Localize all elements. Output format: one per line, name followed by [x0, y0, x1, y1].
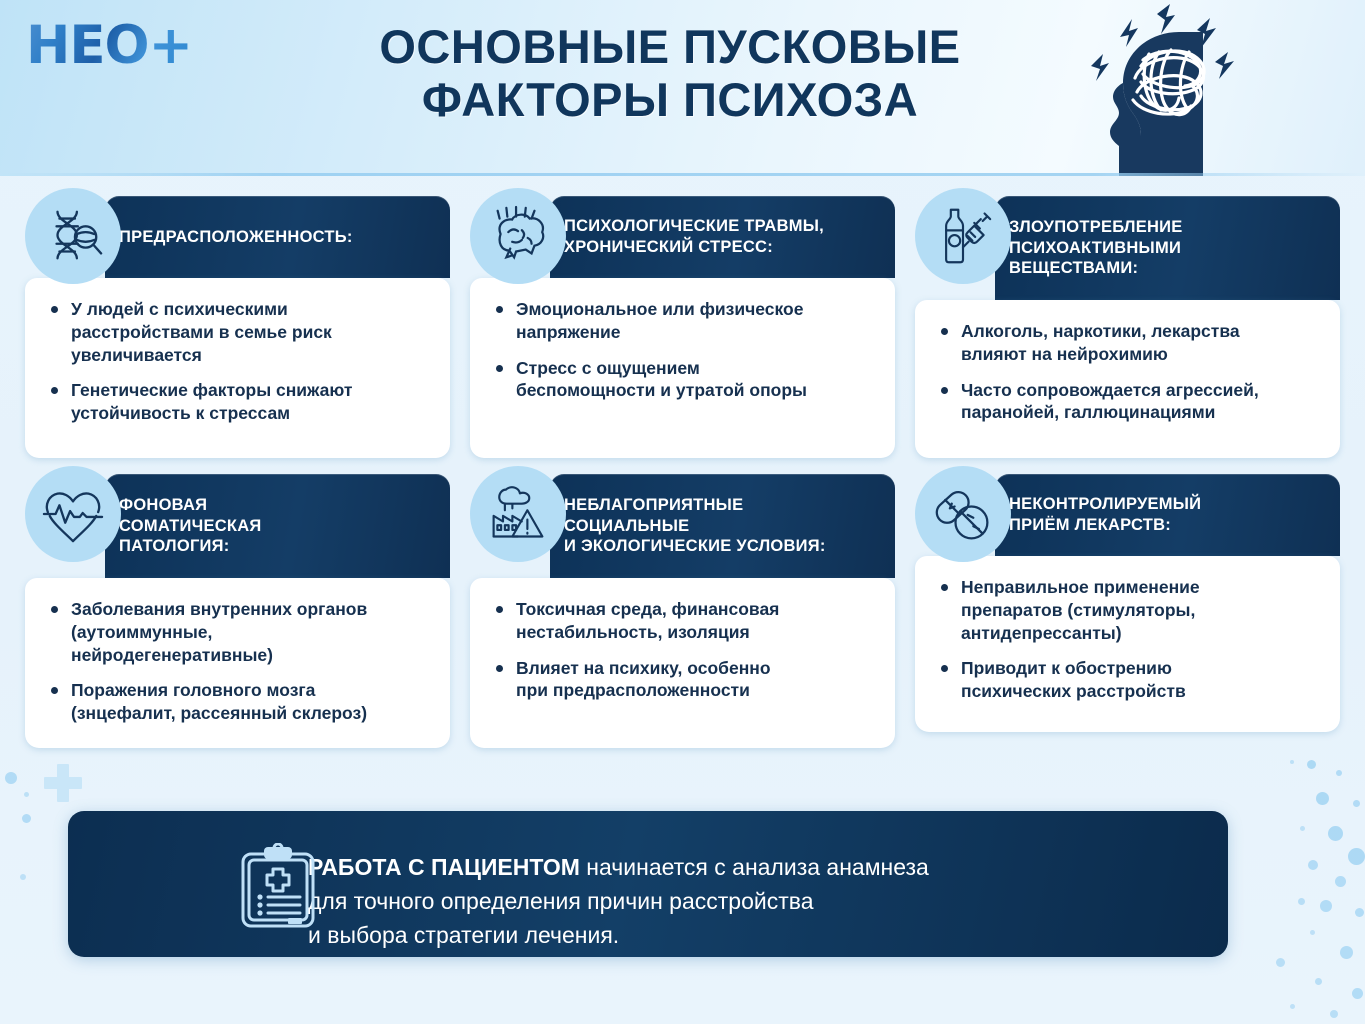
list-item: Влияет на психику, особенно при предрасп… — [492, 657, 879, 703]
list-item: Токсичная среда, финансовая нестабильнос… — [492, 598, 879, 644]
list-item: Эмоциональное или физическое напряжение — [492, 298, 879, 344]
clipboard-medical-icon — [238, 843, 318, 929]
card-title: ПРЕДРАСПОЛОЖЕННОСТЬ: — [119, 227, 353, 248]
deco-dot — [1320, 900, 1332, 912]
banner-text: РАБОТА С ПАЦИЕНТОМ начинается с анализа … — [308, 816, 929, 952]
factor-card: НЕБЛАГОПРИЯТНЫЕ СОЦИАЛЬНЫЕ И ЭКОЛОГИЧЕСК… — [470, 474, 895, 750]
deco-dot — [1330, 1010, 1338, 1018]
summary-banner: РАБОТА С ПАЦИЕНТОМ начинается с анализа … — [68, 811, 1228, 957]
list-item: Приводит к обострению психических расстр… — [937, 657, 1324, 703]
bullet-list: Алкоголь, наркотики, лекарства влияют на… — [937, 320, 1324, 424]
deco-dot — [1300, 826, 1305, 831]
bottle-syringe-icon — [915, 188, 1011, 284]
factory-warning-icon — [470, 466, 566, 562]
bullet-list: У людей с психическими расстройствами в … — [47, 298, 434, 425]
deco-dot — [1348, 848, 1365, 865]
list-item: Заболевания внутренних органов (аутоимму… — [47, 598, 434, 666]
deco-dot — [1276, 958, 1285, 967]
card-title: ЗЛОУПОТРЕБЛЕНИЕ ПСИХОАКТИВНЫМИ ВЕЩЕСТВАМ… — [1009, 217, 1183, 279]
deco-dot — [1353, 800, 1360, 807]
list-item: Неправильное применение препаратов (стим… — [937, 576, 1324, 644]
deco-dot — [1310, 930, 1315, 935]
deco-dot — [5, 772, 17, 784]
head-with-tangled-thoughts-icon — [1075, 4, 1285, 176]
deco-dot — [22, 814, 31, 823]
list-item: Поражения головного мозга (знцефалит, ра… — [47, 679, 434, 725]
list-item: Часто сопровождается агрессией, паранойе… — [937, 379, 1324, 425]
deco-dot — [1335, 876, 1346, 887]
page-title-line-1: ОСНОВНЫЕ ПУСКОВЫЕ — [300, 20, 1040, 73]
factors-grid: ПРЕДРАСПОЛОЖЕННОСТЬ: У людей с психическ… — [25, 196, 1340, 750]
deco-dot — [1307, 760, 1316, 769]
infographic-page: НЕО+ ОСНОВНЫЕ ПУСКОВЫЕ ФАКТОРЫ ПСИХОЗА — [0, 0, 1365, 1024]
card-body: Неправильное применение препаратов (стим… — [915, 556, 1340, 732]
pills-icon — [915, 466, 1011, 562]
deco-dot — [20, 874, 26, 880]
factor-card: ПСИХОЛОГИЧЕСКИЕ ТРАВМЫ, ХРОНИЧЕСКИЙ СТРЕ… — [470, 196, 895, 460]
banner-lead: РАБОТА С ПАЦИЕНТОМ — [308, 854, 580, 880]
deco-dot — [1352, 988, 1363, 999]
card-header: НЕКОНТРОЛИРУЕМЫЙ ПРИЁМ ЛЕКАРСТВ: — [995, 474, 1340, 556]
factor-card: ЗЛОУПОТРЕБЛЕНИЕ ПСИХОАКТИВНЫМИ ВЕЩЕСТВАМ… — [915, 196, 1340, 460]
dna-magnifier-icon — [25, 188, 121, 284]
list-item: Генетические факторы снижают устойчивост… — [47, 379, 434, 425]
factor-card: ФОНОВАЯ СОМАТИЧЕСКАЯ ПАТОЛОГИЯ: Заболева… — [25, 474, 450, 750]
card-body: У людей с психическими расстройствами в … — [25, 278, 450, 458]
card-header: ПСИХОЛОГИЧЕСКИЕ ТРАВМЫ, ХРОНИЧЕСКИЙ СТРЕ… — [550, 196, 895, 278]
bullet-list: Эмоциональное или физическое напряжение … — [492, 298, 879, 402]
factor-card: ПРЕДРАСПОЛОЖЕННОСТЬ: У людей с психическ… — [25, 196, 450, 460]
list-item: У людей с психическими расстройствами в … — [47, 298, 434, 366]
card-header: ПРЕДРАСПОЛОЖЕННОСТЬ: — [105, 196, 450, 278]
card-body: Алкоголь, наркотики, лекарства влияют на… — [915, 300, 1340, 458]
deco-dot — [1290, 760, 1294, 764]
page-title-line-2: ФАКТОРЫ ПСИХОЗА — [300, 73, 1040, 126]
deco-dot — [24, 792, 29, 797]
heart-pulse-icon — [25, 466, 121, 562]
page-title: ОСНОВНЫЕ ПУСКОВЫЕ ФАКТОРЫ ПСИХОЗА — [300, 20, 1040, 126]
card-header: НЕБЛАГОПРИЯТНЫЕ СОЦИАЛЬНЫЕ И ЭКОЛОГИЧЕСК… — [550, 474, 895, 578]
factor-card: НЕКОНТРОЛИРУЕМЫЙ ПРИЁМ ЛЕКАРСТВ: Неправи… — [915, 474, 1340, 750]
card-body: Эмоциональное или физическое напряжение … — [470, 278, 895, 458]
list-item: Стресс с ощущением беспомощности и утрат… — [492, 357, 879, 403]
deco-dot — [1298, 898, 1305, 905]
deco-dot — [1336, 770, 1342, 776]
stressed-brain-icon — [470, 188, 566, 284]
deco-dot — [1290, 1004, 1295, 1009]
deco-dot — [1355, 908, 1364, 917]
deco-dot — [1316, 792, 1329, 805]
deco-dot — [1340, 946, 1353, 959]
deco-dot — [1315, 978, 1322, 985]
card-title: НЕКОНТРОЛИРУЕМЫЙ ПРИЁМ ЛЕКАРСТВ: — [1009, 494, 1201, 536]
card-title: НЕБЛАГОПРИЯТНЫЕ СОЦИАЛЬНЫЕ И ЭКОЛОГИЧЕСК… — [564, 495, 826, 557]
deco-dot — [1328, 826, 1343, 841]
card-header: ЗЛОУПОТРЕБЛЕНИЕ ПСИХОАКТИВНЫМИ ВЕЩЕСТВАМ… — [995, 196, 1340, 300]
deco-dot — [1308, 860, 1318, 870]
card-body: Токсичная среда, финансовая нестабильнос… — [470, 578, 895, 748]
bullet-list: Неправильное применение препаратов (стим… — [937, 576, 1324, 703]
page-header: НЕО+ ОСНОВНЫЕ ПУСКОВЫЕ ФАКТОРЫ ПСИХОЗА — [0, 0, 1365, 176]
bullet-list: Токсичная среда, финансовая нестабильнос… — [492, 598, 879, 702]
card-body: Заболевания внутренних органов (аутоимму… — [25, 578, 450, 748]
bullet-list: Заболевания внутренних органов (аутоимму… — [47, 598, 434, 725]
card-header: ФОНОВАЯ СОМАТИЧЕСКАЯ ПАТОЛОГИЯ: — [105, 474, 450, 578]
card-title: ФОНОВАЯ СОМАТИЧЕСКАЯ ПАТОЛОГИЯ: — [119, 495, 261, 557]
list-item: Алкоголь, наркотики, лекарства влияют на… — [937, 320, 1324, 366]
card-title: ПСИХОЛОГИЧЕСКИЕ ТРАВМЫ, ХРОНИЧЕСКИЙ СТРЕ… — [564, 216, 824, 258]
brand-logo[interactable]: НЕО+ — [26, 17, 198, 73]
plus-icon — [44, 764, 82, 802]
